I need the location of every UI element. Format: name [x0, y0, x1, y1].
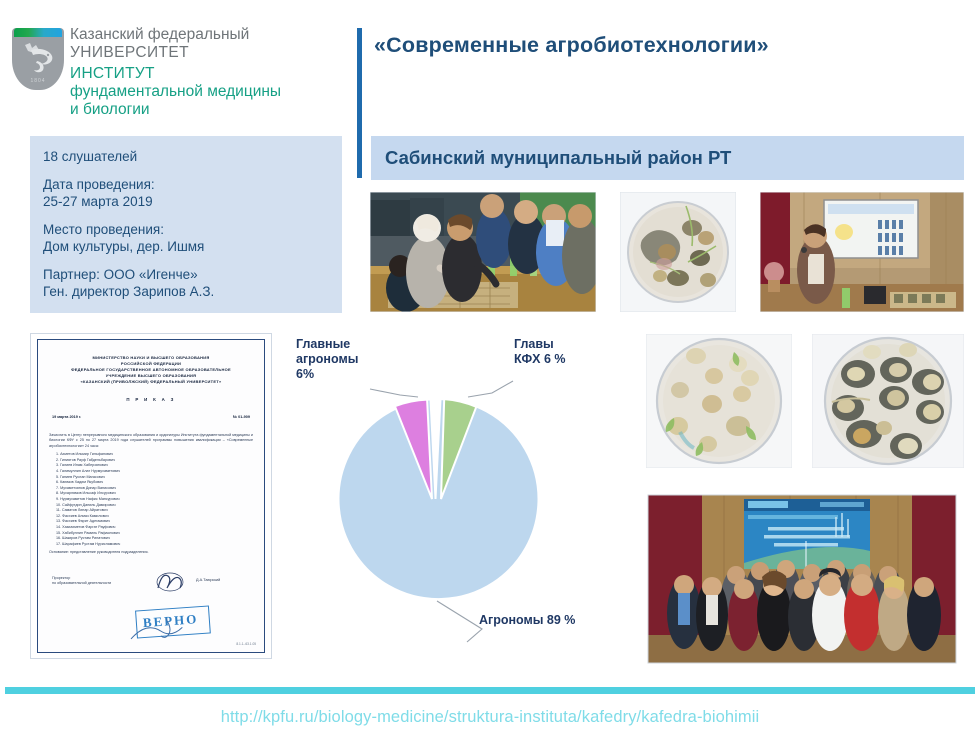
logo-line-fundamental-medicine: фундаментальной медицины [70, 83, 340, 101]
doc-code: 8.1.1.-63.1.05 [236, 642, 256, 646]
pie-label-line: Агрономы 89 % [479, 613, 575, 628]
photo-petri-dish-mold [812, 334, 964, 468]
logo-line-biology: и биологии [70, 101, 340, 119]
photo-petri-dish-top [620, 192, 736, 312]
doc-body-text: Зачислить в Центр непрерывного медицинск… [49, 433, 253, 449]
pie-slice-agronomy [338, 399, 538, 599]
title-accent-bar [357, 28, 362, 178]
doc-student-list: 1. Ахметов Ильмир Гильфанович 2. Гиниято… [56, 452, 253, 547]
doc-signer-title: Проректор по образовательной деятельност… [52, 576, 111, 587]
leader-line-agronomy [437, 601, 482, 642]
logo-line-institute: ИНСТИТУТ [70, 65, 340, 83]
photo-participants-group [640, 489, 964, 669]
pie-label-line: агрономы [296, 352, 358, 367]
doc-type-label: П Р И К А З [38, 397, 264, 402]
pie-label-glavy-kfh: Главы КФХ 6 % [514, 337, 565, 367]
info-date-value: 25-27 марта 2019 [43, 193, 342, 210]
stamp-signature-icon [125, 612, 205, 643]
shield-year-text: 1804 [12, 78, 64, 84]
info-partner-label: Партнер: ООО «Игенче» [43, 266, 342, 283]
doc-signer-name: Д.А.Таюрский [196, 578, 220, 582]
slide-canvas: 1804 Казанский федеральный УНИВЕРСИТЕТ И… [0, 0, 980, 735]
photo-group-at-table [370, 192, 596, 312]
doc-signer-title-line2: по образовательной деятельности [52, 581, 111, 586]
participants-pie-chart: Главные агрономы 6% Главы КФХ 6 % Агроно… [282, 333, 627, 658]
doc-signature-icon [154, 572, 190, 592]
photo-order-document: МИНИСТЕРСТВО НАУКИ И ВЫСШЕГО ОБРАЗОВАНИЯ… [30, 333, 272, 659]
pie-label-line: Главы [514, 337, 565, 352]
info-place-value: Дом культуры, дер. Ишмя [43, 238, 342, 255]
info-place-label: Место проведения: [43, 221, 342, 238]
section-banner-title: Сабинский муниципальный район РТ [385, 147, 731, 169]
slide-title: «Современные агробиотехнологии» [374, 33, 769, 58]
doc-header-line-5: «КАЗАНСКИЙ (ПРИВОЛЖСКИЙ) ФЕДЕРАЛЬНЫЙ УНИ… [46, 379, 256, 385]
logo-line-kazan: Казанский федеральный [70, 26, 340, 44]
info-date-label: Дата проведения: [43, 176, 342, 193]
kfu-shield-icon: 1804 [12, 28, 64, 90]
photo-speaker-projector [760, 192, 964, 312]
verno-stamp-icon: ВЕРНО [135, 605, 211, 640]
footer-rule [5, 687, 975, 694]
leader-line-glavnye-agronomy [370, 389, 418, 397]
doc-basis-text: Основание: представление руководителя по… [49, 550, 253, 554]
event-info-panel: 18 слушателей Дата проведения: 25-27 мар… [30, 136, 342, 313]
pie-label-line: Главные [296, 337, 358, 352]
pie-label-line: 6% [296, 367, 358, 382]
info-listeners: 18 слушателей [43, 148, 342, 165]
footer-url[interactable]: http://kpfu.ru/biology-medicine/struktur… [0, 708, 980, 727]
doc-date: 19 марта 2019 г. [52, 415, 81, 419]
info-partner-value: Ген. директор Зарипов А.З. [43, 283, 342, 300]
doc-number: № 01-909 [233, 415, 250, 419]
doc-list-item: 17. Шарафиев Рустам Нурисламович [56, 542, 253, 548]
pie-label-agronomy: Агрономы 89 % [479, 613, 575, 628]
winged-serpent-emblem-icon [19, 41, 57, 75]
pie-label-glavnye-agronomy: Главные агрономы 6% [296, 337, 358, 382]
pie-label-line: КФХ 6 % [514, 352, 565, 367]
leader-line-glavy-kfh [468, 381, 513, 397]
photo-petri-dish-germinated [646, 334, 792, 468]
kfu-logo: 1804 Казанский федеральный УНИВЕРСИТЕТ И… [12, 26, 342, 116]
logo-line-university: УНИВЕРСИТЕТ [70, 44, 340, 62]
